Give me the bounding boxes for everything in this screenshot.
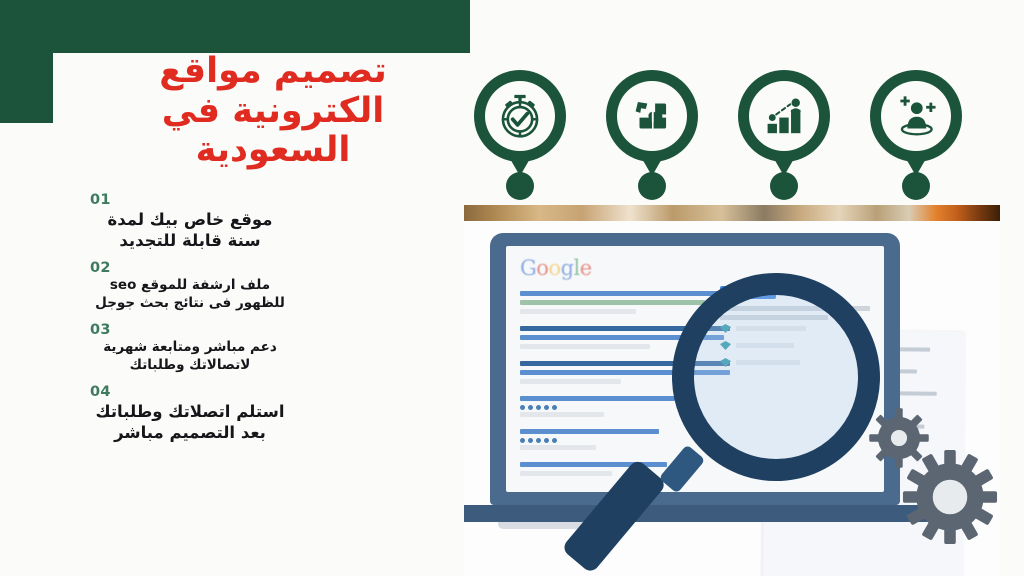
pin-inner <box>485 81 555 151</box>
list-item: 03 دعم مباشر ومتابعة شهرية لاتصالاتك وطل… <box>90 322 290 375</box>
list-item-number: 04 <box>90 384 290 400</box>
puzzle-pieces-icon <box>627 91 677 141</box>
list-item: 04 استلم اتصلاتك وطلباتك بعد التصميم مبا… <box>90 384 290 443</box>
pin-marker-1[interactable] <box>474 70 566 188</box>
growth-chart-people-icon <box>759 91 809 141</box>
list-item-text: دعم مباشر ومتابعة شهرية لاتصالاتك وطلبات… <box>90 339 290 375</box>
pin-circle <box>606 70 698 162</box>
list-item-number: 02 <box>90 260 290 276</box>
pin-circle <box>474 70 566 162</box>
list-item-number: 01 <box>90 192 290 208</box>
illustration-canvas: Google <box>464 221 1000 576</box>
pin-inner <box>881 81 951 151</box>
gear-large-icon <box>902 449 998 545</box>
pin-circle <box>738 70 830 162</box>
wood-texture-strip <box>464 205 1000 221</box>
slide-canvas: تصميم مواقع الكترونية في السعودية 01 موق… <box>0 0 1024 576</box>
title-block: تصميم مواقع الكترونية في السعودية <box>108 52 438 171</box>
decor-green-bar-top <box>0 0 470 53</box>
pin-marker-4[interactable] <box>870 70 962 188</box>
list-item: 01 موقع خاص بيك لمدة سنة قابلة للتجديد <box>90 192 290 251</box>
pin-inner <box>749 81 819 151</box>
pin-dot <box>902 172 930 200</box>
feature-list: 01 موقع خاص بيك لمدة سنة قابلة للتجديد 0… <box>90 192 290 452</box>
person-plus-target-icon <box>891 91 941 141</box>
list-item-text: ملف ارشفة للموقع seo للظهور فى نتائج بحث… <box>90 277 290 313</box>
stopwatch-check-icon <box>494 90 546 142</box>
pin-dot <box>638 172 666 200</box>
pin-marker-2[interactable] <box>606 70 698 188</box>
pin-circle <box>870 70 962 162</box>
laptop-base <box>464 505 938 522</box>
pin-dot <box>770 172 798 200</box>
pin-inner <box>617 81 687 151</box>
list-item-text: موقع خاص بيك لمدة سنة قابلة للتجديد <box>90 209 290 251</box>
decor-green-bar-left <box>0 53 53 123</box>
magnifying-glass-icon <box>672 273 880 481</box>
list-item: 02 ملف ارشفة للموقع seo للظهور فى نتائج … <box>90 260 290 313</box>
pin-marker-3[interactable] <box>738 70 830 188</box>
list-item-number: 03 <box>90 322 290 338</box>
page-title: تصميم مواقع الكترونية في السعودية <box>108 52 438 171</box>
google-logo: Google <box>520 258 870 279</box>
pin-dot <box>506 172 534 200</box>
illustration-panel: Google <box>464 205 1000 576</box>
list-item-text: استلم اتصلاتك وطلباتك بعد التصميم مباشر <box>90 401 290 443</box>
